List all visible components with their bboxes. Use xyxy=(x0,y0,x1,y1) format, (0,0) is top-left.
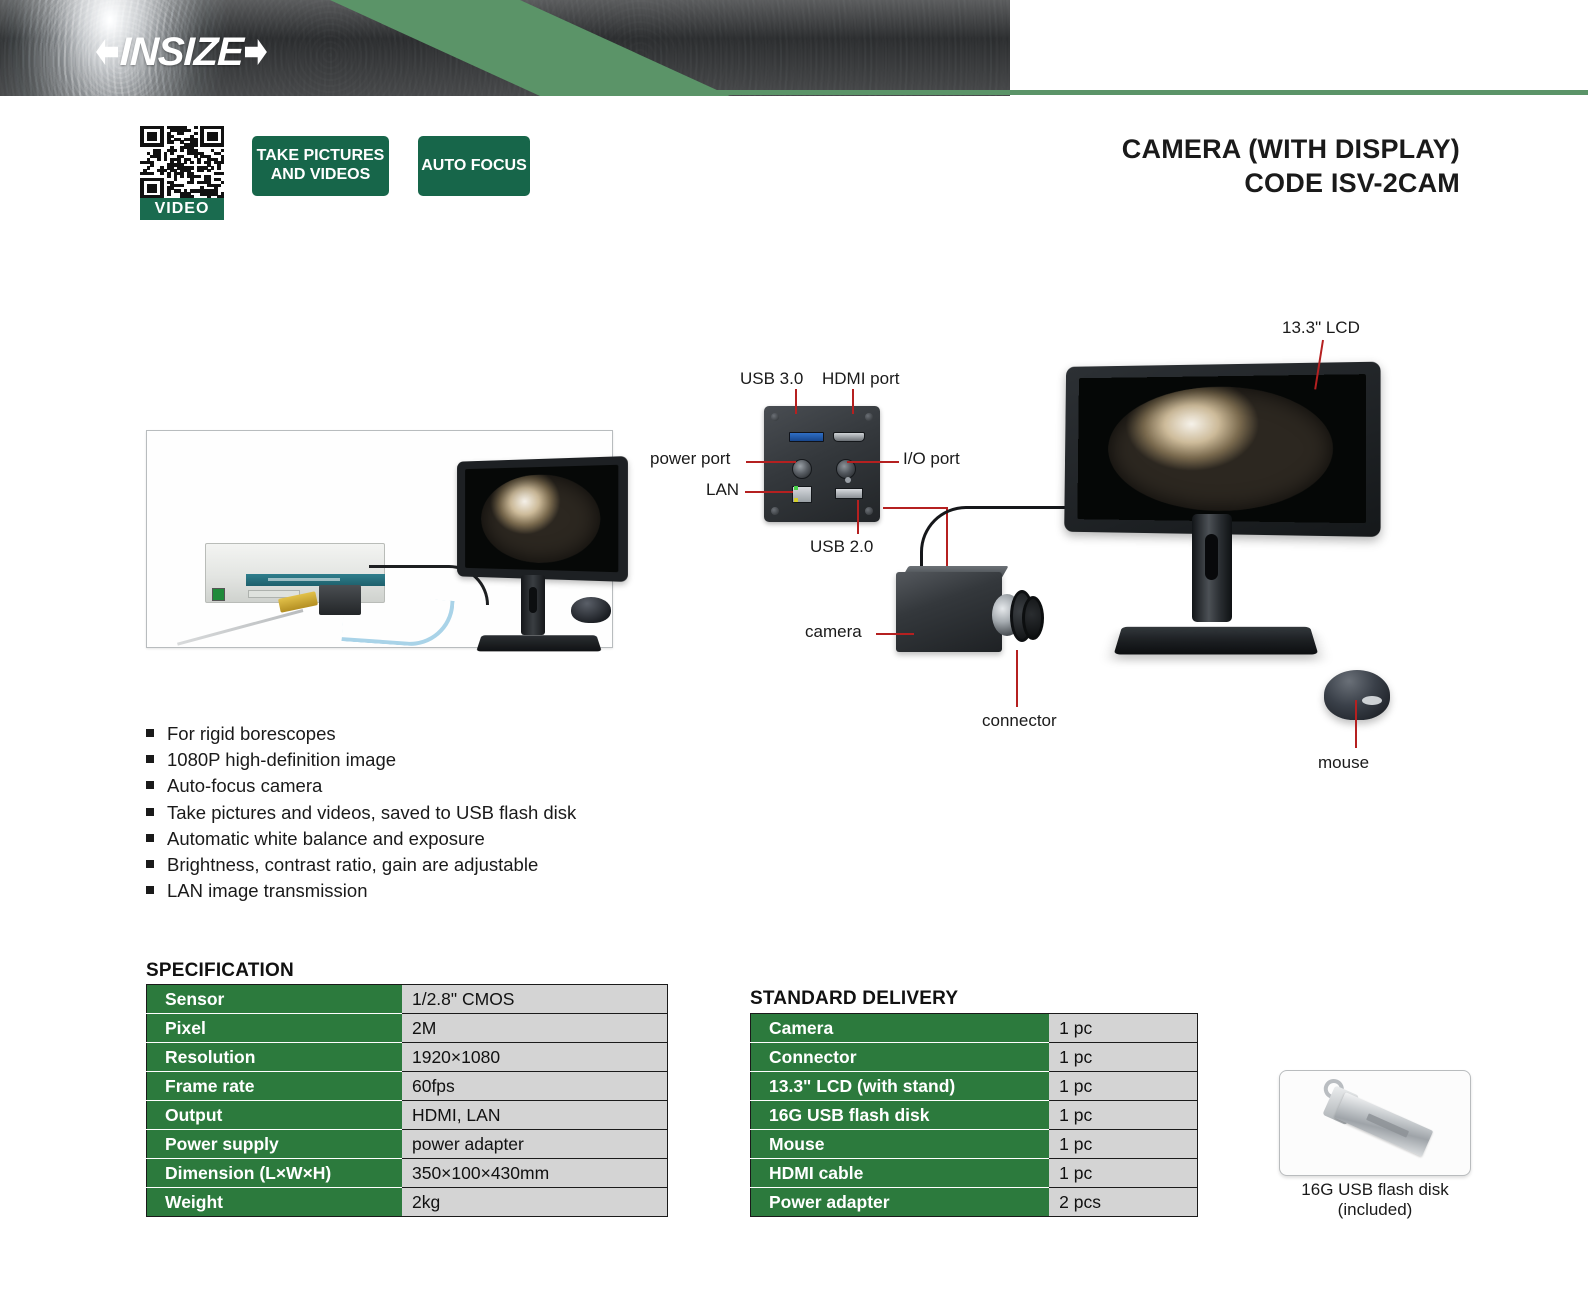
lcd-borescope-image xyxy=(1108,385,1333,512)
spec-key: Pixel xyxy=(147,1014,402,1043)
list-item: 1080P high-definition image xyxy=(144,748,664,771)
logo-right-arrow-icon xyxy=(245,39,267,65)
spec-value: HDMI, LAN xyxy=(402,1101,668,1130)
label-usb2: USB 2.0 xyxy=(810,537,873,557)
delivery-qty: 1 pc xyxy=(1049,1130,1197,1159)
list-item: For rigid borescopes xyxy=(144,722,664,745)
table-row: Dimension (L×W×H) 350×100×430mm xyxy=(147,1159,668,1188)
table-row: 16G USB flash disk 1 pc xyxy=(751,1101,1198,1130)
list-item: Brightness, contrast ratio, gain are adj… xyxy=(144,853,664,876)
spec-key: Frame rate xyxy=(147,1072,402,1101)
delivery-item: HDMI cable xyxy=(751,1159,1050,1188)
lcd-stand-base xyxy=(1114,627,1319,655)
qr-code-icon[interactable] xyxy=(140,126,224,198)
label-mouse: mouse xyxy=(1318,753,1369,773)
spec-key: Resolution xyxy=(147,1043,402,1072)
badge-take-pictures-and-videos: TAKE PICTURES AND VIDEOS xyxy=(252,136,389,196)
control-panel-strip xyxy=(246,574,385,586)
usb-flash-disk-caption: 16G USB flash disk (included) xyxy=(1260,1180,1490,1221)
list-item: Auto-focus camera xyxy=(144,774,664,797)
badge-autofocus-label: AUTO FOCUS xyxy=(421,157,526,176)
usb-flash-disk-figure xyxy=(1279,1070,1471,1176)
spec-value: 1/2.8" CMOS xyxy=(402,985,668,1014)
product-title: CAMERA (WITH DISPLAY) xyxy=(1122,132,1460,166)
spec-value: 350×100×430mm xyxy=(402,1159,668,1188)
spec-key: Power supply xyxy=(147,1130,402,1159)
badge-pictures-line1: TAKE PICTURES xyxy=(257,147,385,166)
logo-text: INSIZE xyxy=(119,32,243,72)
badge-pictures-line2: AND VIDEOS xyxy=(257,166,385,185)
delivery-item: Mouse xyxy=(751,1130,1050,1159)
callout-line-usb2 xyxy=(857,500,859,534)
panel-screw-br xyxy=(865,507,873,515)
spec-value: 2M xyxy=(402,1014,668,1043)
product-system-photo xyxy=(146,430,613,648)
usb-flash-disk-image xyxy=(1308,1070,1445,1173)
delivery-qty: 1 pc xyxy=(1049,1043,1197,1072)
banner-accent-rule xyxy=(640,90,1588,95)
callout-line-camera xyxy=(876,633,914,635)
mouse-device xyxy=(1324,670,1390,720)
panel-screw-tr xyxy=(865,413,873,421)
monitor-small xyxy=(451,459,626,579)
specification-table: Sensor 1/2.8" CMOS Pixel 2M Resolution 1… xyxy=(146,984,668,1217)
mouse-small xyxy=(571,597,611,623)
lcd-monitor xyxy=(1058,364,1378,534)
spec-key: Weight xyxy=(147,1188,402,1217)
hdmi-port xyxy=(833,432,865,442)
spec-key: Sensor xyxy=(147,985,402,1014)
delivery-item: 13.3" LCD (with stand) xyxy=(751,1072,1050,1101)
table-row: Weight 2kg xyxy=(147,1188,668,1217)
spec-key: Dimension (L×W×H) xyxy=(147,1159,402,1188)
label-connector: connector xyxy=(982,711,1057,731)
table-row: Frame rate 60fps xyxy=(147,1072,668,1101)
callout-line-hdmi xyxy=(852,389,854,414)
lcd-stand-neck xyxy=(1192,514,1232,622)
delivery-qty: 1 pc xyxy=(1049,1072,1197,1101)
label-lan: LAN xyxy=(706,480,739,500)
monitor-stand-neck xyxy=(521,575,545,635)
panel-screw-tl xyxy=(771,413,779,421)
table-row: Power supply power adapter xyxy=(147,1130,668,1159)
callout-line-power xyxy=(746,461,796,463)
table-row: Output HDMI, LAN xyxy=(147,1101,668,1130)
delivery-qty: 2 pcs xyxy=(1049,1188,1197,1217)
panel-screw-bl xyxy=(771,507,779,515)
table-row: HDMI cable 1 pc xyxy=(751,1159,1198,1188)
port-panel-diagram xyxy=(764,406,880,522)
page-header-banner: INSIZE xyxy=(0,0,1588,100)
connector-ring-inner xyxy=(1022,596,1044,640)
table-row: Mouse 1 pc xyxy=(751,1130,1198,1159)
list-item: LAN image transmission xyxy=(144,879,664,902)
delivery-item: 16G USB flash disk xyxy=(751,1101,1050,1130)
table-row: Power adapter 2 pcs xyxy=(751,1188,1198,1217)
insize-logo: INSIZE xyxy=(96,32,267,72)
callout-line-usb3 xyxy=(795,389,797,414)
spec-value: 2kg xyxy=(402,1188,668,1217)
callout-line-lan xyxy=(745,491,793,493)
delivery-item: Power adapter xyxy=(751,1188,1050,1217)
lcd-screen xyxy=(1077,374,1366,523)
camera-housing xyxy=(896,572,1002,652)
logo-left-arrow-icon xyxy=(96,39,118,65)
usb3-port xyxy=(789,432,824,442)
spec-value: 1920×1080 xyxy=(402,1043,668,1072)
table-row: Connector 1 pc xyxy=(751,1043,1198,1072)
spec-key: Output xyxy=(147,1101,402,1130)
status-led-icon xyxy=(845,477,851,483)
port-panel-plate xyxy=(764,406,880,522)
power-button-green xyxy=(212,588,225,601)
callout-line-connector xyxy=(1016,650,1018,707)
camera-unit xyxy=(896,566,1046,664)
label-power-port: power port xyxy=(650,449,730,469)
standard-delivery-table: Camera 1 pc Connector 1 pc 13.3" LCD (wi… xyxy=(750,1013,1198,1217)
callout-line-mouse xyxy=(1355,700,1357,748)
usb-body xyxy=(1334,1092,1433,1157)
delivery-qty: 1 pc xyxy=(1049,1101,1197,1130)
list-item: Automatic white balance and exposure xyxy=(144,827,664,850)
delivery-qty: 1 pc xyxy=(1049,1014,1197,1043)
qr-video-label: VIDEO xyxy=(140,198,224,220)
video-qr-block[interactable]: VIDEO xyxy=(140,126,224,220)
spec-value: 60fps xyxy=(402,1072,668,1101)
table-row: Resolution 1920×1080 xyxy=(147,1043,668,1072)
monitor-screen xyxy=(465,465,618,573)
table-row: Pixel 2M xyxy=(147,1014,668,1043)
badge-auto-focus: AUTO FOCUS xyxy=(418,136,530,196)
product-title-block: CAMERA (WITH DISPLAY) CODE ISV-2CAM xyxy=(1122,132,1460,200)
lan-port xyxy=(792,486,812,503)
borescope-probe xyxy=(177,609,303,646)
table-row: Sensor 1/2.8" CMOS xyxy=(147,985,668,1014)
feature-list-items: For rigid borescopes 1080P high-definiti… xyxy=(144,722,664,902)
specification-title: SPECIFICATION xyxy=(146,960,294,982)
feature-list: For rigid borescopes 1080P high-definiti… xyxy=(144,722,664,906)
monitor-stand-base xyxy=(476,635,602,651)
photo-scene xyxy=(153,437,606,641)
usb2-port xyxy=(835,488,863,499)
label-camera: camera xyxy=(805,622,862,642)
label-usb3: USB 3.0 xyxy=(740,369,803,389)
table-row: 13.3" LCD (with stand) 1 pc xyxy=(751,1072,1198,1101)
delivery-item: Camera xyxy=(751,1014,1050,1043)
usb-caption-line2: (included) xyxy=(1260,1200,1490,1220)
product-code: CODE ISV-2CAM xyxy=(1122,166,1460,200)
delivery-qty: 1 pc xyxy=(1049,1159,1197,1188)
usb-caption-line1: 16G USB flash disk xyxy=(1260,1180,1490,1200)
table-row: Camera 1 pc xyxy=(751,1014,1198,1043)
borescope-image xyxy=(481,473,600,565)
spec-value: power adapter xyxy=(402,1130,668,1159)
list-item: Take pictures and videos, saved to USB f… xyxy=(144,801,664,824)
delivery-item: Connector xyxy=(751,1043,1050,1072)
label-lcd: 13.3" LCD xyxy=(1282,318,1360,338)
standard-delivery-title: STANDARD DELIVERY xyxy=(750,988,958,1010)
